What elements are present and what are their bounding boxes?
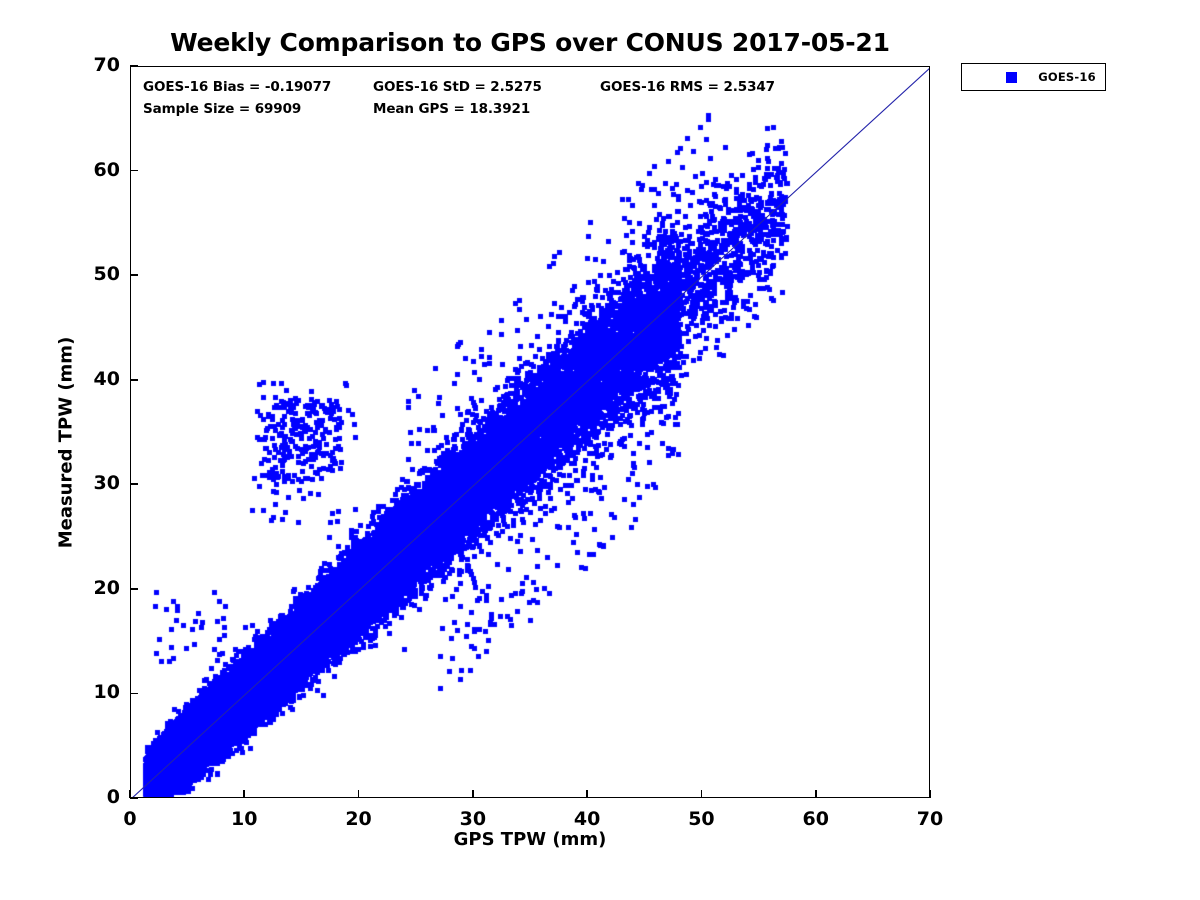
y-tick-mark: [130, 65, 138, 67]
x-tick-label: 70: [900, 808, 960, 830]
x-tick-mark: [701, 790, 703, 798]
legend: GOES-16: [961, 63, 1106, 91]
y-axis-title: Measured TPW (mm): [56, 77, 77, 809]
x-tick-mark: [815, 790, 817, 798]
x-tick-label: 10: [214, 808, 274, 830]
annotation-rms: GOES-16 RMS = 2.5347: [600, 79, 775, 95]
plot-area: [130, 66, 930, 798]
annotation-sample-size: Sample Size = 69909: [143, 101, 301, 117]
legend-marker-goes-16: [1006, 72, 1017, 83]
x-tick-mark: [586, 790, 588, 798]
x-tick-label: 0: [100, 808, 160, 830]
y-tick-mark: [130, 588, 138, 590]
y-tick-mark: [130, 170, 138, 172]
annotation-bias: GOES-16 Bias = -0.19077: [143, 79, 331, 95]
y-tick-mark: [130, 797, 138, 799]
x-tick-mark: [929, 790, 931, 798]
annotation-std: GOES-16 StD = 2.5275: [373, 79, 542, 95]
x-axis-title: GPS TPW (mm): [130, 829, 930, 850]
chart-figure: Weekly Comparison to GPS over CONUS 2017…: [0, 0, 1200, 900]
annotation-mean-gps: Mean GPS = 18.3921: [373, 101, 530, 117]
x-tick-mark: [472, 790, 474, 798]
x-tick-label: 50: [671, 808, 731, 830]
chart-title: Weekly Comparison to GPS over CONUS 2017…: [130, 28, 930, 57]
y-tick-mark: [130, 693, 138, 695]
x-tick-label: 30: [443, 808, 503, 830]
x-tick-mark: [358, 790, 360, 798]
x-tick-label: 40: [557, 808, 617, 830]
x-tick-label: 20: [329, 808, 389, 830]
y-tick-mark: [130, 379, 138, 381]
y-tick-label: 70: [60, 54, 120, 76]
scatter-points-layer: [131, 67, 930, 798]
x-tick-mark: [243, 790, 245, 798]
legend-label-goes-16: GOES-16: [1032, 70, 1102, 84]
y-tick-mark: [130, 483, 138, 485]
y-tick-mark: [130, 274, 138, 276]
x-tick-label: 60: [786, 808, 846, 830]
